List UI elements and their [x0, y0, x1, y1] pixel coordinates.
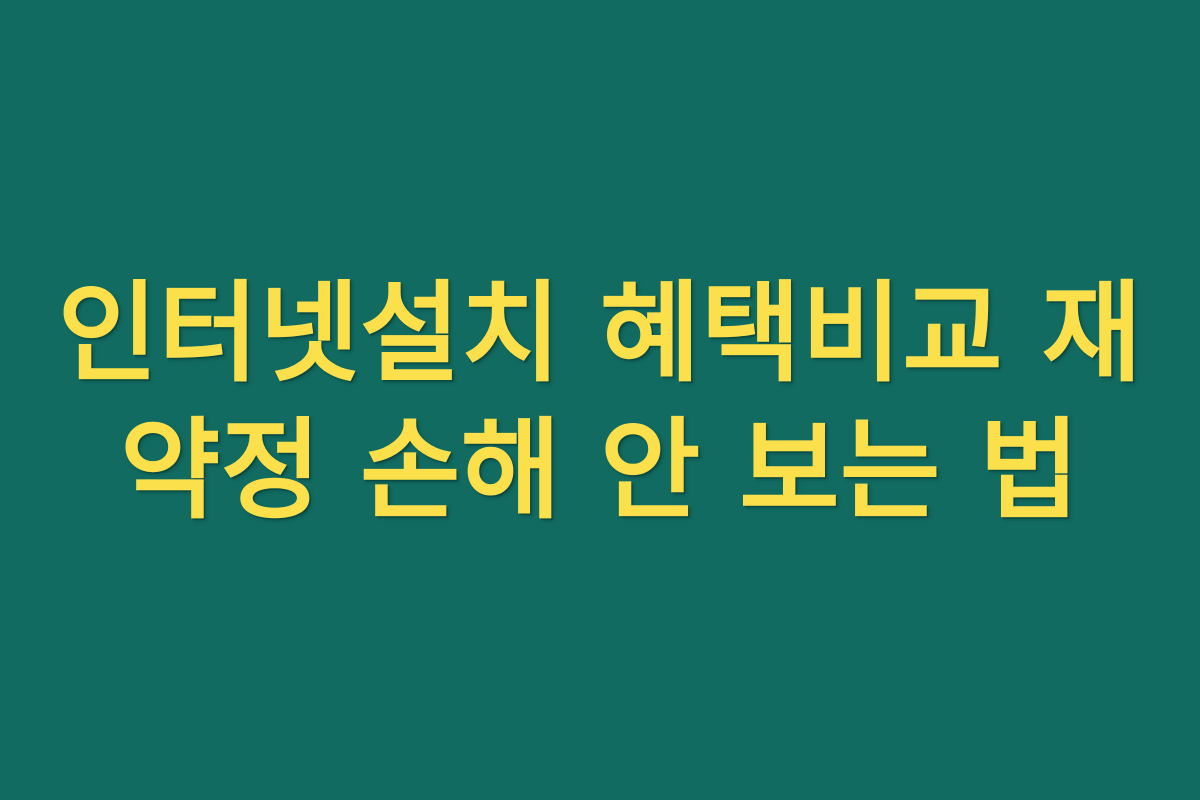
page-title: 인터넷설치 혜택비교 재 약정 손해 안 보는 법	[70, 265, 1130, 540]
title-line-2: 약정 손해 안 보는 법	[120, 402, 1080, 539]
thumbnail-card: 인터넷설치 혜택비교 재 약정 손해 안 보는 법	[0, 0, 1200, 800]
title-line-1: 인터넷설치 혜택비교 재	[58, 265, 1143, 402]
